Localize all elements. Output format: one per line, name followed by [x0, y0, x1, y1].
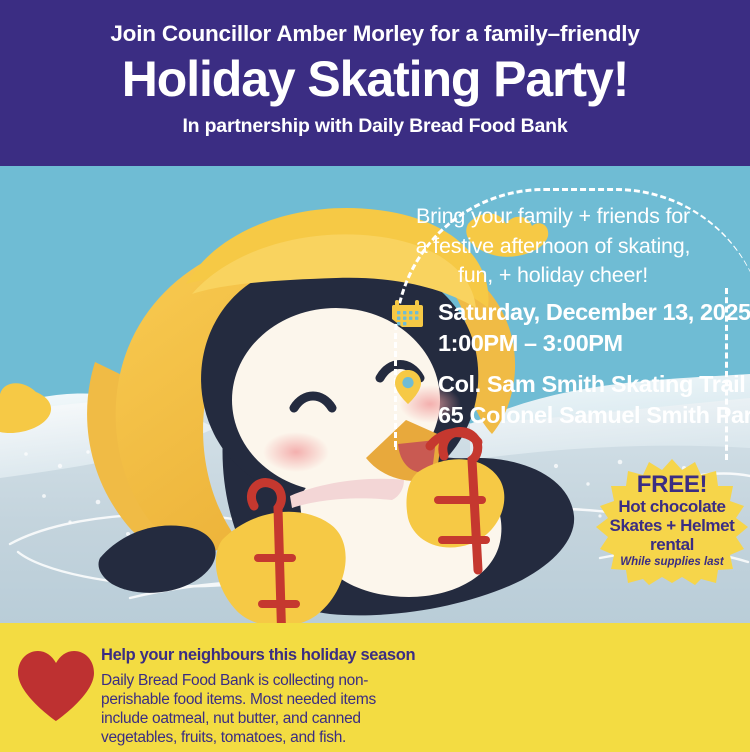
free-badge: FREE! Hot chocolate Skates + Helmet rent… [594, 457, 750, 585]
food-drive-body-line-1: Daily Bread Food Bank is collecting non- [101, 672, 368, 689]
heart-icon [14, 649, 98, 723]
event-venue-line-1: Col. Sam Smith Skating Trail [438, 369, 750, 400]
calendar-icon [392, 296, 424, 334]
info-intro-line-2: a festive afternoon of skating, [392, 232, 714, 262]
free-badge-line-2: Skates + Helmet [610, 516, 735, 535]
free-badge-line-3: rental [650, 535, 694, 554]
header-kicker: Join Councillor Amber Morley for a famil… [0, 22, 750, 47]
header-subline: In partnership with Daily Bread Food Ban… [0, 116, 750, 137]
event-date-line-1: Saturday, December 13, 2025 [438, 297, 750, 328]
poster-footer: Help your neighbours this holiday season… [0, 623, 750, 752]
header-headline: Holiday Skating Party! [0, 51, 750, 107]
illustration-stage: Bring your family + friends for a festiv… [0, 166, 750, 623]
info-intro-text: Bring your family + friends for a festiv… [392, 202, 714, 291]
food-drive-body-line-2: perishable food items. Most needed items [101, 691, 376, 708]
food-drive-body-line-3: include oatmeal, nut butter, and canned [101, 710, 361, 727]
event-location-text: Col. Sam Smith Skating Trail 65 Colonel … [438, 368, 750, 431]
food-drive-title: Help your neighbours this holiday season [101, 646, 431, 666]
free-badge-content: FREE! Hot chocolate Skates + Helmet rent… [594, 457, 750, 585]
event-date-text: Saturday, December 13, 2025 1:00PM – 3:0… [438, 296, 750, 359]
free-badge-note: While supplies last [620, 556, 724, 570]
map-pin-icon [392, 368, 424, 406]
food-drive-copy: Help your neighbours this holiday season… [101, 646, 431, 747]
event-time-line-2: 1:00PM – 3:00PM [438, 328, 750, 359]
free-badge-headline: FREE! [637, 472, 708, 497]
free-badge-line-1: Hot chocolate [618, 497, 725, 516]
event-date-block: Saturday, December 13, 2025 1:00PM – 3:0… [392, 296, 750, 359]
event-address-line-2: 65 Colonel Samuel Smith Park Dr [438, 400, 750, 431]
info-intro-line-3: fun, + holiday cheer! [392, 261, 714, 291]
food-drive-body-line-4: vegetables, fruits, tomatoes, and fish. [101, 729, 346, 746]
poster-header: Join Councillor Amber Morley for a famil… [0, 0, 750, 166]
food-drive-body: Daily Bread Food Bank is collecting non-… [101, 672, 431, 748]
event-location-block: Col. Sam Smith Skating Trail 65 Colonel … [392, 368, 750, 431]
info-intro-line-1: Bring your family + friends for [392, 202, 714, 232]
poster-root: Join Councillor Amber Morley for a famil… [0, 0, 750, 752]
